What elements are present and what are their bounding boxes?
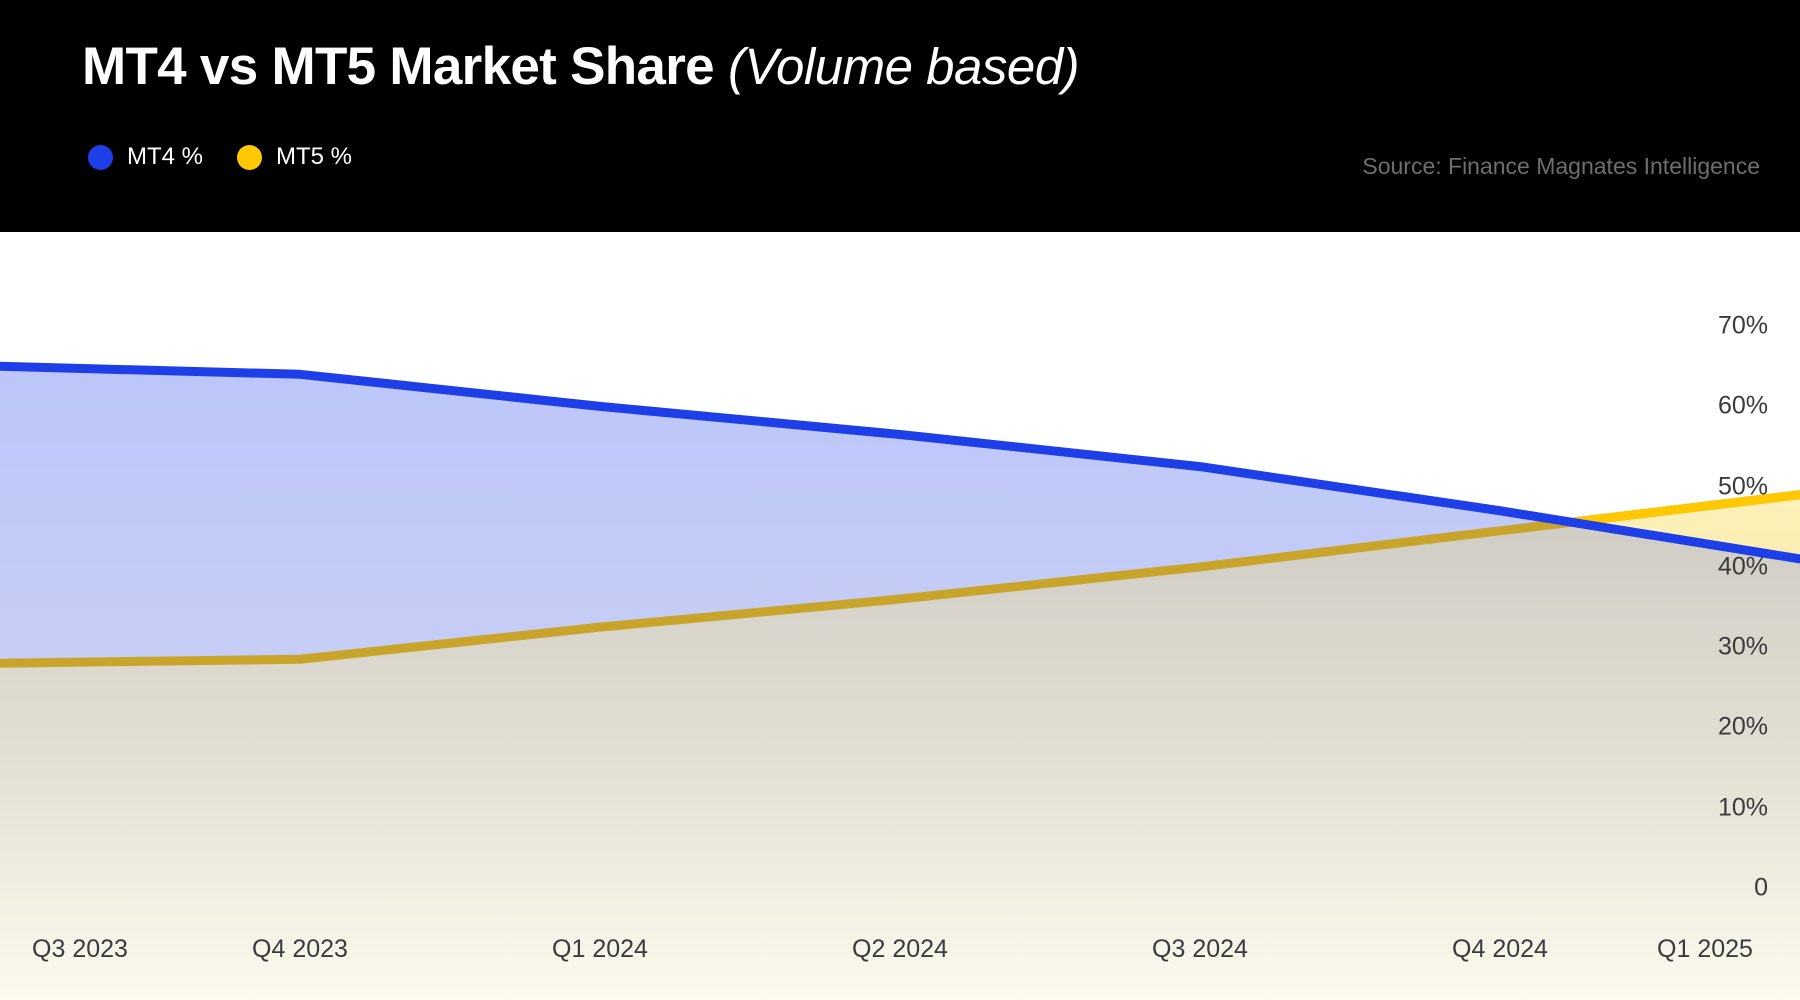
chart-page: MT4 vs MT5 Market Share (Volume based) M…: [0, 0, 1800, 1000]
legend-swatch-icon: [88, 145, 113, 170]
page-title: MT4 vs MT5 Market Share (Volume based): [82, 38, 1079, 96]
legend-label-mt4: MT4 %: [127, 143, 203, 171]
chart-header: MT4 vs MT5 Market Share (Volume based) M…: [0, 0, 1800, 232]
chart-legend: MT4 % MT5 %: [88, 143, 352, 171]
title-subtitle: (Volume based): [728, 38, 1079, 95]
area-chart-svg: [0, 232, 1800, 1000]
legend-label-mt5: MT5 %: [276, 143, 352, 171]
legend-item-mt5[interactable]: MT5 %: [237, 143, 352, 171]
chart-plot-area: 70%60%50%40%30%20%10%0 Q3 2023Q4 2023Q1 …: [0, 232, 1800, 1000]
legend-item-mt4[interactable]: MT4 %: [88, 143, 203, 171]
title-main: MT4 vs MT5 Market Share: [82, 37, 728, 96]
source-attribution: Source: Finance Magnates Intelligence: [1362, 153, 1760, 180]
legend-swatch-icon: [237, 145, 262, 170]
